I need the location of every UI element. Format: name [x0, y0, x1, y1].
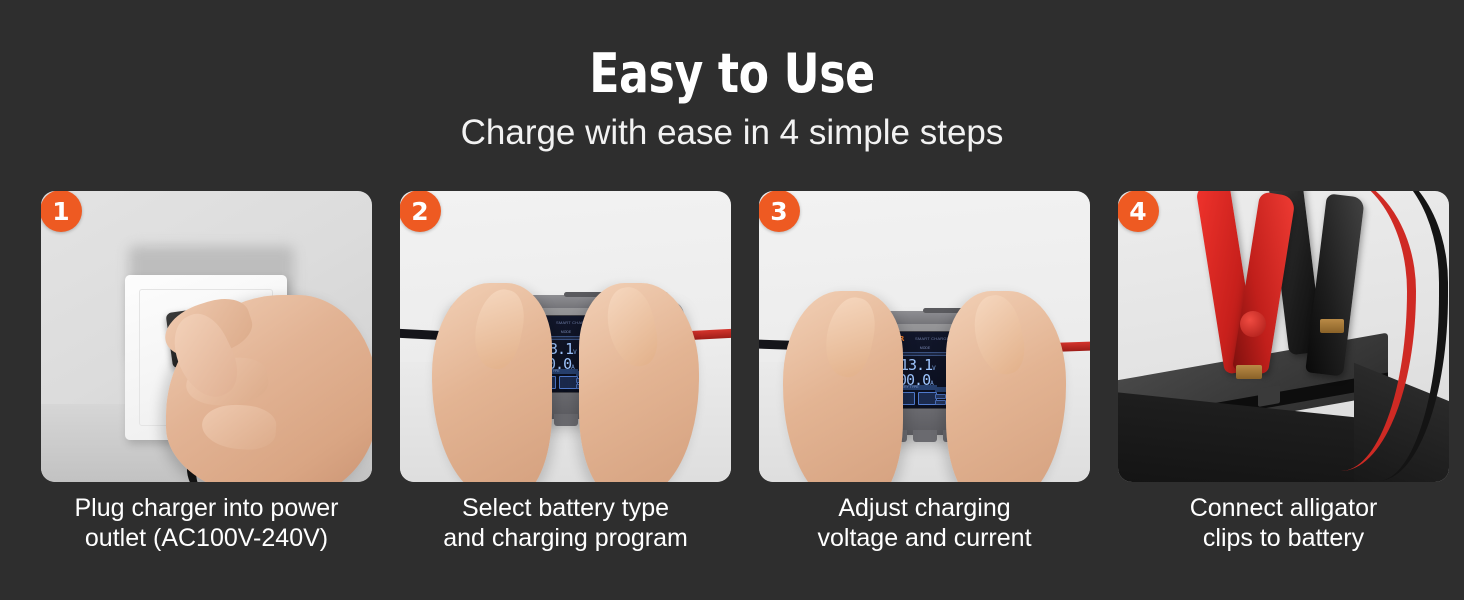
lcd-tab: MODE [551, 329, 582, 335]
step-2-caption: Select battery type and charging program [400, 493, 731, 553]
page-header: Easy to Use Charge with ease in 4 simple… [0, 0, 1464, 155]
lcd-tab: MODE [910, 345, 941, 351]
step-1-caption: Plug charger into power outlet (AC100V-2… [41, 493, 372, 553]
step-1-image: 1 [41, 191, 372, 482]
step-4-image: 4 [1118, 191, 1449, 482]
step-3-caption-line-2: voltage and current [759, 523, 1090, 553]
step-2-caption-line-1: Select battery type [400, 493, 731, 523]
page-title: Easy to Use [132, 46, 1332, 102]
step-3: 3 VEVOR SMART CHARGER BATTERY MODE PROGR… [759, 191, 1090, 553]
step-1-badge: 1 [41, 191, 82, 232]
clip-teeth [1236, 365, 1262, 379]
step-4-badge: 4 [1118, 191, 1159, 232]
clip-teeth [1320, 319, 1344, 333]
clip-pivot [1240, 311, 1266, 337]
steps-row: 1 Plug charger into power outlet (AC100V… [41, 191, 1423, 553]
red-alligator-clip [1210, 191, 1292, 403]
step-1: 1 Plug charger into power outlet (AC100V… [41, 191, 372, 553]
page-subtitle: Charge with ease in 4 simple steps [0, 111, 1464, 155]
step-2-image: 2 VEVOR SMART CHARGER BATTERY MODE PROGR… [400, 191, 731, 482]
step-3-image: 3 VEVOR SMART CHARGER BATTERY MODE PROGR… [759, 191, 1090, 482]
step-4: 4 Connect alligator clips to battery [1118, 191, 1449, 553]
step-4-caption: Connect alligator clips to battery [1118, 493, 1449, 553]
step-3-caption: Adjust charging voltage and current [759, 493, 1090, 553]
step-1-caption-line-2: outlet (AC100V-240V) [41, 523, 372, 553]
step-1-caption-line-1: Plug charger into power [41, 493, 372, 523]
step-4-caption-line-1: Connect alligator [1118, 493, 1449, 523]
step-2: 2 VEVOR SMART CHARGER BATTERY MODE PROGR… [400, 191, 731, 553]
step-4-caption-line-2: clips to battery [1118, 523, 1449, 553]
step-3-caption-line-1: Adjust charging [759, 493, 1090, 523]
step-2-badge: 2 [400, 191, 441, 232]
step-2-caption-line-2: and charging program [400, 523, 731, 553]
step-3-badge: 3 [759, 191, 800, 232]
